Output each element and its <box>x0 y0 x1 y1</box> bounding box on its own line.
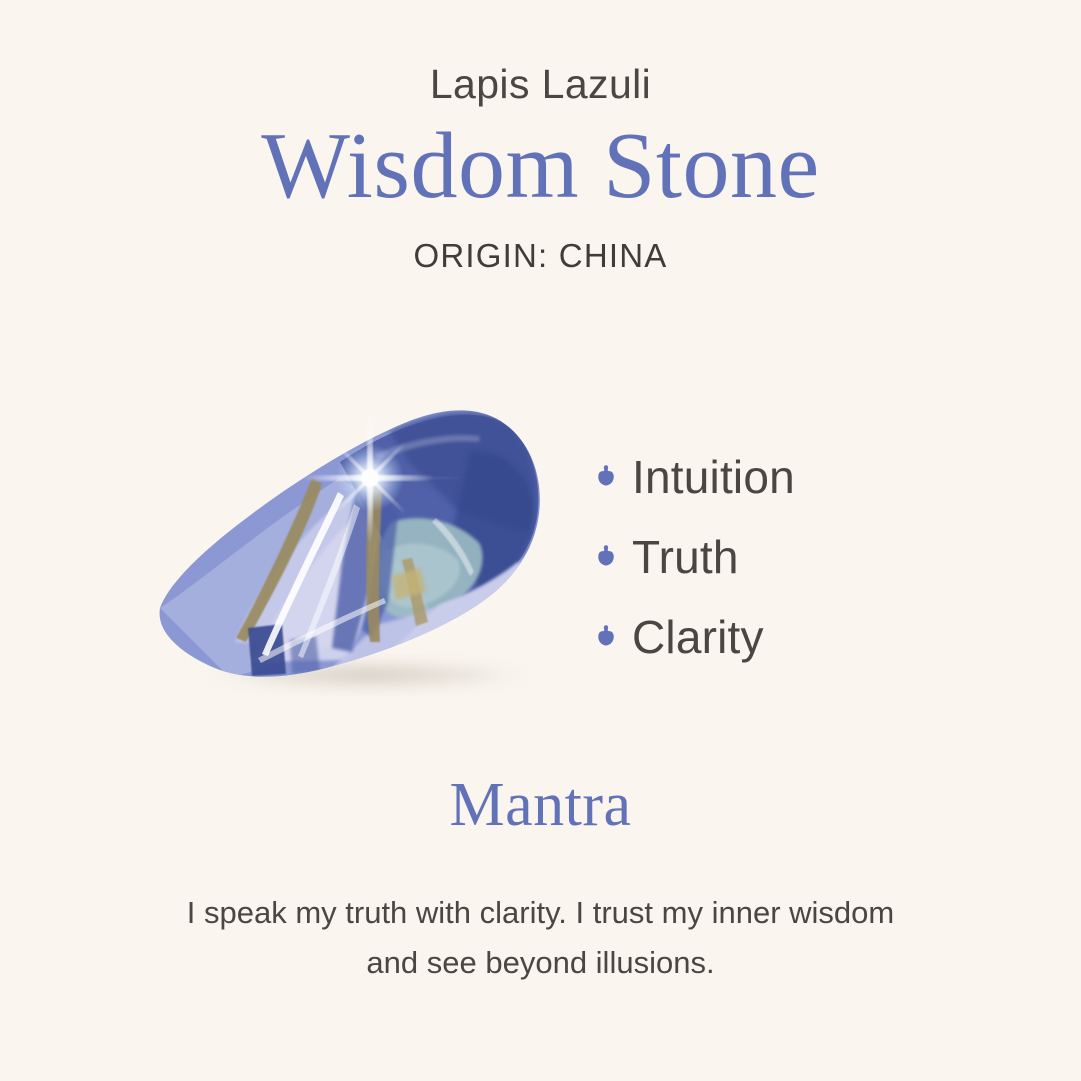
attributes-list: Intuition Truth Clarity <box>596 437 1016 677</box>
gemstone-illustration <box>140 392 560 722</box>
attribute-item-truth: Truth <box>596 517 1016 597</box>
stone-and-attributes-section: Intuition Truth Clarity <box>0 382 1081 732</box>
gemstone-svg <box>140 392 560 722</box>
attribute-label: Intuition <box>632 454 795 500</box>
page-title: Wisdom Stone <box>0 107 1081 216</box>
stone-card: Lapis Lazuli Wisdom Stone ORIGIN: CHINA <box>0 0 1081 1081</box>
attribute-label: Clarity <box>632 614 764 660</box>
gem-bullet-icon <box>596 623 616 651</box>
origin-label: ORIGIN: CHINA <box>0 216 1081 274</box>
stone-name-eyebrow: Lapis Lazuli <box>0 0 1081 107</box>
gem-bullet-icon <box>596 543 616 571</box>
card-header: Lapis Lazuli Wisdom Stone ORIGIN: CHINA <box>0 0 1081 274</box>
mantra-line-1: I speak my truth with clarity. I trust m… <box>187 895 894 930</box>
mantra-heading: Mantra <box>0 768 1081 842</box>
mantra-text: I speak my truth with clarity. I trust m… <box>161 842 921 987</box>
mantra-section: Mantra I speak my truth with clarity. I … <box>0 768 1081 988</box>
gem-bullet-icon <box>596 463 616 491</box>
attribute-item-clarity: Clarity <box>596 597 1016 677</box>
mantra-line-2: and see beyond illusions. <box>366 945 714 980</box>
attribute-item-intuition: Intuition <box>596 437 1016 517</box>
attribute-label: Truth <box>632 534 739 580</box>
